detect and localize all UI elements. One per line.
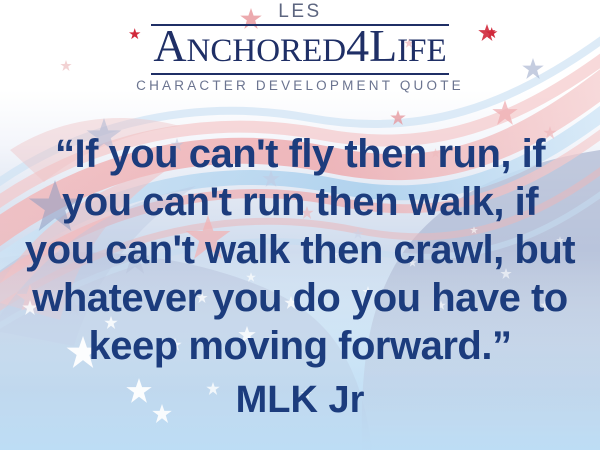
- logo-letter-a: A: [153, 20, 186, 71]
- quote-line-2: you can't run then walk, if: [0, 178, 600, 226]
- quote-line-5: keep moving forward.”: [0, 322, 600, 370]
- logo-wordmark-wrap: ANCHORED4LIFE: [143, 21, 456, 76]
- quote-text: “If you can't fly then run, if you can't…: [0, 130, 600, 370]
- quote-line-4: whatever you do you have to: [0, 274, 600, 322]
- logo-tagline: CHARACTER DEVELOPMENT QUOTE: [0, 78, 600, 94]
- logo-les-text: LES: [0, 2, 600, 22]
- logo-letters-nchored: NCHORED: [187, 33, 347, 69]
- logo-letter-l: L: [369, 20, 397, 71]
- logo-numeral-four: 4: [346, 20, 369, 71]
- quote-attribution: MLK Jr: [0, 378, 600, 422]
- brand-logo: LES ANCHORED4LIFE CHARACTER DEVELOPMENT …: [0, 2, 600, 94]
- quote-line-3: you can't walk then crawl, but: [0, 226, 600, 274]
- logo-letters-ife: IFE: [397, 33, 447, 69]
- logo-top-rule: [151, 24, 448, 26]
- logo-wordmark: ANCHORED4LIFE: [143, 21, 456, 76]
- logo-bottom-rule: [151, 73, 448, 75]
- quote-graphic-canvas: LES ANCHORED4LIFE CHARACTER DEVELOPMENT …: [0, 0, 600, 450]
- quote-line-1: “If you can't fly then run, if: [0, 130, 600, 178]
